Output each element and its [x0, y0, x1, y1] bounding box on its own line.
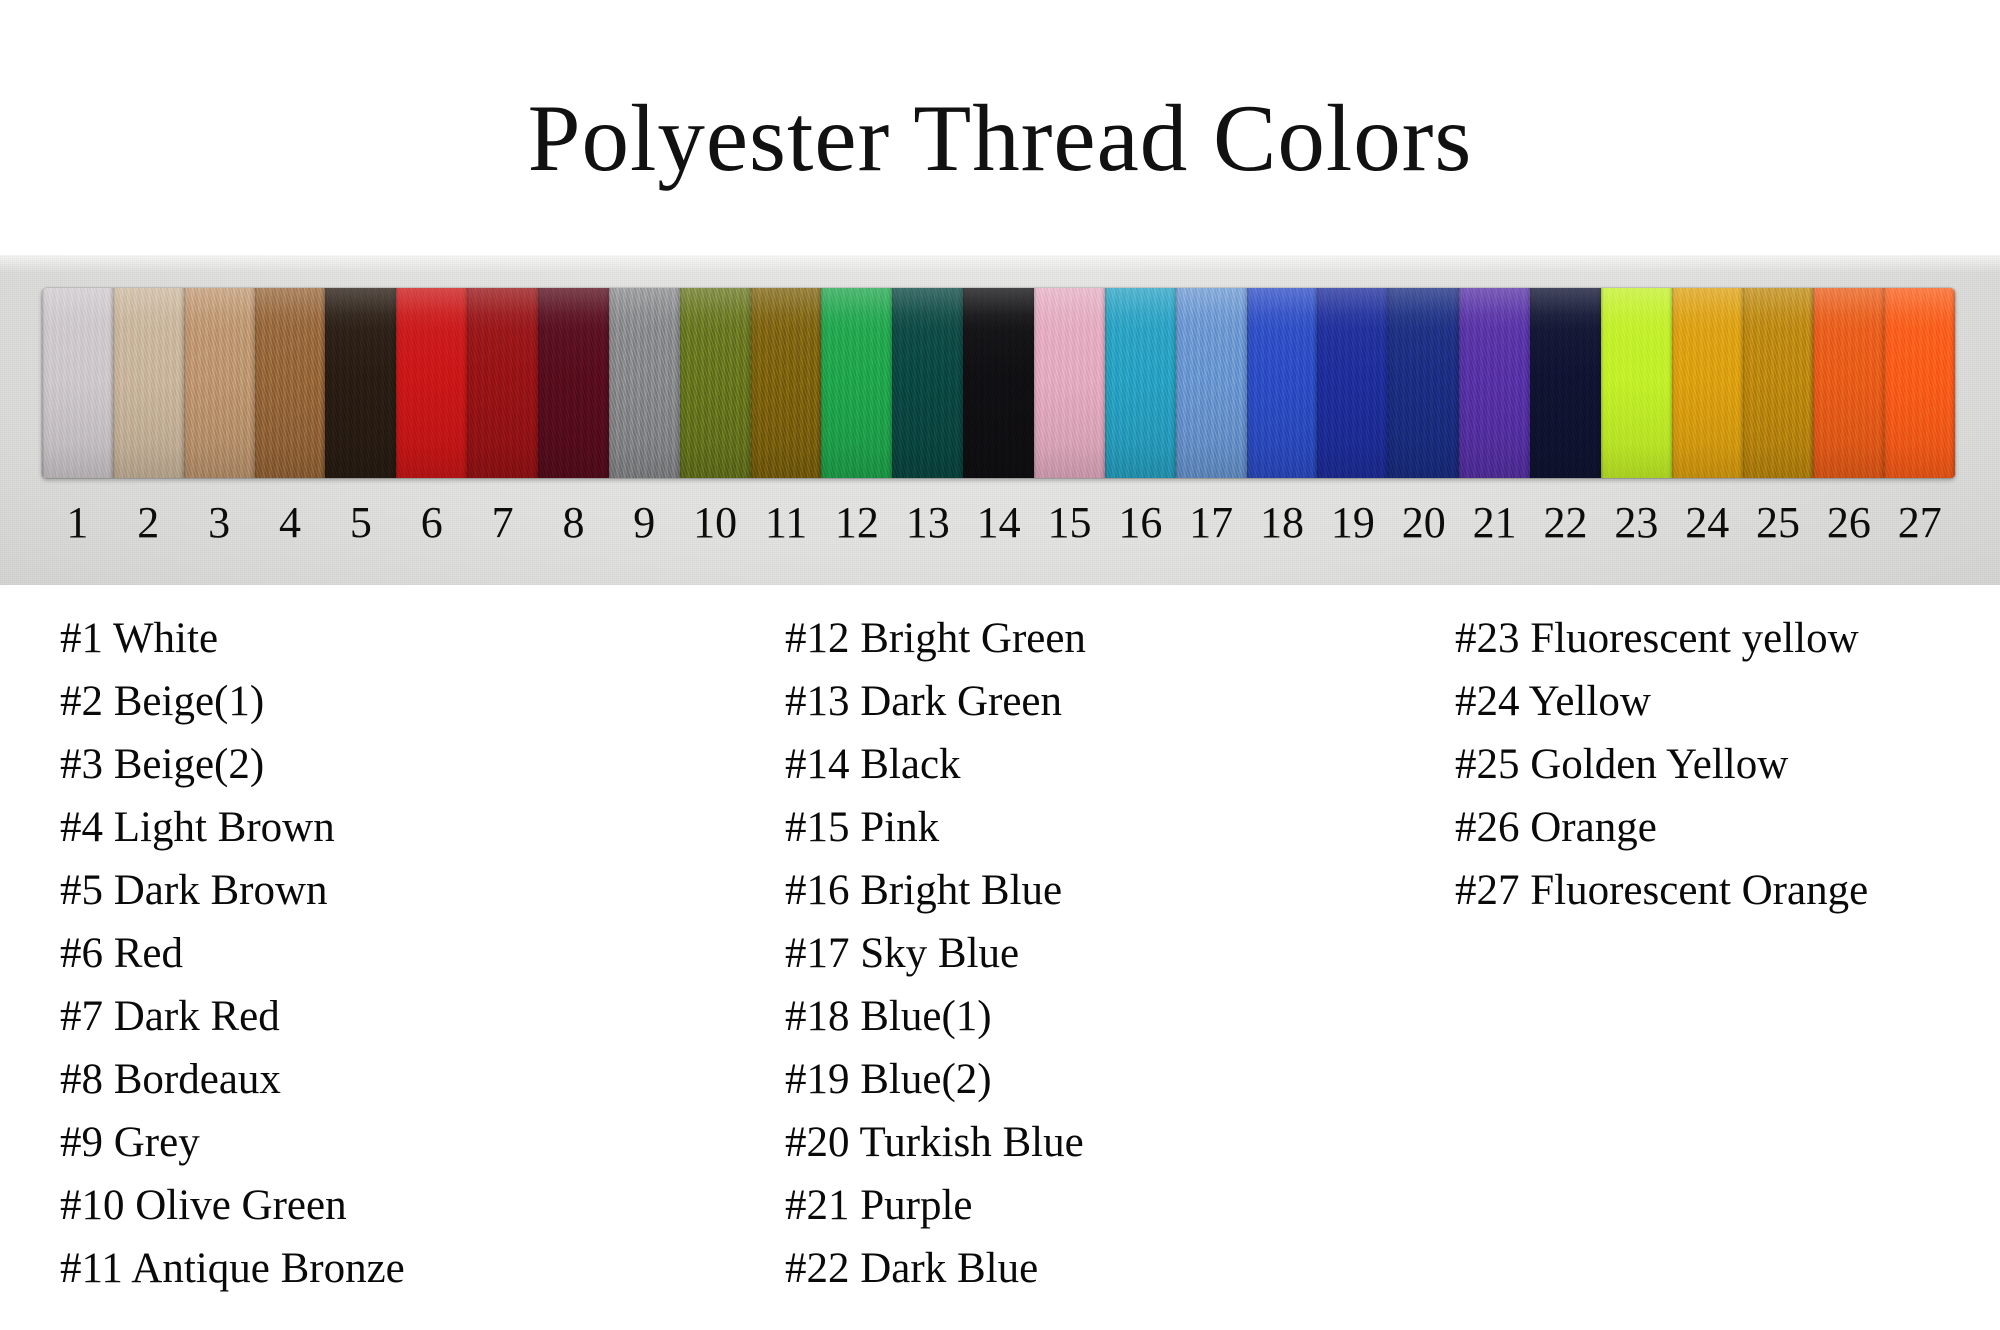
thread-swatch-strip	[42, 288, 1955, 478]
swatch-edge-left	[184, 288, 187, 478]
swatch-number-6: 6	[396, 495, 467, 555]
legend-item: #21 Purple	[785, 1174, 1425, 1237]
swatch-shading	[1601, 288, 1672, 478]
swatch-number-10: 10	[680, 495, 751, 555]
legend-item: #10 Olive Green	[60, 1174, 700, 1237]
thread-swatch-5	[325, 288, 396, 478]
swatch-edge-left	[609, 288, 612, 478]
swatch-number-14: 14	[963, 495, 1034, 555]
swatch-number-9: 9	[609, 495, 680, 555]
thread-swatch-25	[1743, 288, 1814, 478]
swatch-edge-left	[963, 288, 966, 478]
thread-swatch-17	[1176, 288, 1247, 478]
thread-swatch-15	[1034, 288, 1105, 478]
legend-item: #26 Orange	[1455, 796, 1975, 859]
legend-item: #16 Bright Blue	[785, 859, 1425, 922]
swatch-number-26: 26	[1813, 495, 1884, 555]
legend-item: #1 White	[60, 607, 700, 670]
swatch-number-12: 12	[821, 495, 892, 555]
thread-swatch-21	[1459, 288, 1530, 478]
thread-swatch-16	[1105, 288, 1176, 478]
swatch-edge-left	[1176, 288, 1179, 478]
thread-swatch-3	[184, 288, 255, 478]
swatch-number-20: 20	[1388, 495, 1459, 555]
swatch-shading	[396, 288, 467, 478]
thread-swatch-7	[467, 288, 538, 478]
legend-item: #20 Turkish Blue	[785, 1111, 1425, 1174]
swatch-edge-left	[538, 288, 541, 478]
swatch-number-25: 25	[1743, 495, 1814, 555]
swatch-number-7: 7	[467, 495, 538, 555]
swatch-shading	[751, 288, 822, 478]
swatch-shading	[1176, 288, 1247, 478]
swatch-edge-left	[255, 288, 258, 478]
legend-item: #25 Golden Yellow	[1455, 733, 1975, 796]
swatch-shading	[1388, 288, 1459, 478]
swatch-edge-left	[680, 288, 683, 478]
legend-item: #24 Yellow	[1455, 670, 1975, 733]
legend-item: #11 Antique Bronze	[60, 1237, 700, 1300]
swatch-shading	[1034, 288, 1105, 478]
legend-item: #5 Dark Brown	[60, 859, 700, 922]
swatch-shading	[821, 288, 892, 478]
swatch-number-3: 3	[184, 495, 255, 555]
swatch-edge-left	[1884, 288, 1887, 478]
legend-item: #12 Bright Green	[785, 607, 1425, 670]
swatch-shading	[1672, 288, 1743, 478]
swatch-edge-left	[1317, 288, 1320, 478]
legend-item: #2 Beige(1)	[60, 670, 700, 733]
swatch-shading	[1884, 288, 1955, 478]
legend-item: #22 Dark Blue	[785, 1237, 1425, 1300]
legend-column-2: #12 Bright Green#13 Dark Green#14 Black#…	[785, 607, 1425, 1300]
swatch-shading	[467, 288, 538, 478]
legend-item: #14 Black	[785, 733, 1425, 796]
thread-swatch-24	[1672, 288, 1743, 478]
swatch-number-19: 19	[1317, 495, 1388, 555]
thread-swatch-22	[1530, 288, 1601, 478]
swatch-number-13: 13	[892, 495, 963, 555]
swatch-number-15: 15	[1034, 495, 1105, 555]
swatch-edge-left	[396, 288, 399, 478]
legend-item: #4 Light Brown	[60, 796, 700, 859]
swatch-shading	[963, 288, 1034, 478]
swatch-number-row: 1234567891011121314151617181920212223242…	[42, 495, 1955, 555]
swatch-edge-left	[42, 288, 45, 478]
swatch-shading	[1743, 288, 1814, 478]
legend-item: #9 Grey	[60, 1111, 700, 1174]
swatch-number-24: 24	[1672, 495, 1743, 555]
thread-swatch-27	[1884, 288, 1955, 478]
legend-column-3: #23 Fluorescent yellow#24 Yellow#25 Gold…	[1455, 607, 1975, 922]
legend-item: #8 Bordeaux	[60, 1048, 700, 1111]
thread-swatch-2	[113, 288, 184, 478]
legend-item: #17 Sky Blue	[785, 922, 1425, 985]
thread-swatch-12	[821, 288, 892, 478]
swatch-shading	[42, 288, 113, 478]
thread-swatch-26	[1813, 288, 1884, 478]
thread-swatch-8	[538, 288, 609, 478]
swatch-shading	[892, 288, 963, 478]
swatch-number-21: 21	[1459, 495, 1530, 555]
swatch-shading	[325, 288, 396, 478]
swatch-number-1: 1	[42, 495, 113, 555]
swatch-shading	[538, 288, 609, 478]
swatch-number-2: 2	[113, 495, 184, 555]
thread-swatch-4	[255, 288, 326, 478]
swatch-shading	[113, 288, 184, 478]
swatch-edge-left	[1601, 288, 1604, 478]
thread-swatch-20	[1388, 288, 1459, 478]
legend-item: #13 Dark Green	[785, 670, 1425, 733]
legend-item: #6 Red	[60, 922, 700, 985]
thread-swatch-19	[1317, 288, 1388, 478]
swatch-number-16: 16	[1105, 495, 1176, 555]
swatch-edge-left	[1247, 288, 1250, 478]
swatch-number-27: 27	[1884, 495, 1955, 555]
legend-item: #7 Dark Red	[60, 985, 700, 1048]
thread-swatch-14	[963, 288, 1034, 478]
legend-item: #18 Blue(1)	[785, 985, 1425, 1048]
thread-swatch-9	[609, 288, 680, 478]
legend-column-1: #1 White#2 Beige(1)#3 Beige(2)#4 Light B…	[60, 607, 700, 1300]
thread-swatch-18	[1247, 288, 1318, 478]
swatch-number-17: 17	[1176, 495, 1247, 555]
legend-item: #3 Beige(2)	[60, 733, 700, 796]
swatch-edge-left	[821, 288, 824, 478]
thread-swatch-11	[751, 288, 822, 478]
swatch-edge-left	[1672, 288, 1675, 478]
swatch-shading	[1105, 288, 1176, 478]
swatch-edge-left	[892, 288, 895, 478]
swatch-edge-left	[1743, 288, 1746, 478]
swatch-number-4: 4	[255, 495, 326, 555]
swatch-number-18: 18	[1247, 495, 1318, 555]
swatch-edge-left	[1105, 288, 1108, 478]
swatch-number-8: 8	[538, 495, 609, 555]
swatch-edge-left	[1813, 288, 1816, 478]
page-title: Polyester Thread Colors	[528, 69, 1473, 186]
swatch-shading	[609, 288, 680, 478]
thread-swatch-10	[680, 288, 751, 478]
swatch-shading	[680, 288, 751, 478]
swatch-shading	[1317, 288, 1388, 478]
thread-swatch-13	[892, 288, 963, 478]
swatch-number-5: 5	[325, 495, 396, 555]
swatch-shading	[1247, 288, 1318, 478]
swatch-shading	[1530, 288, 1601, 478]
legend-item: #19 Blue(2)	[785, 1048, 1425, 1111]
color-legend: #1 White#2 Beige(1)#3 Beige(2)#4 Light B…	[0, 585, 2000, 1330]
legend-item: #23 Fluorescent yellow	[1455, 607, 1975, 670]
swatch-edge-left	[325, 288, 328, 478]
swatch-edge-left	[1459, 288, 1462, 478]
title-section: Polyester Thread Colors	[0, 0, 2000, 255]
swatch-number-23: 23	[1601, 495, 1672, 555]
swatch-number-22: 22	[1530, 495, 1601, 555]
swatch-number-11: 11	[751, 495, 822, 555]
swatch-shading	[255, 288, 326, 478]
thread-swatch-1	[42, 288, 113, 478]
swatch-edge-left	[1388, 288, 1391, 478]
swatch-edge-left	[751, 288, 754, 478]
swatch-edge-left	[113, 288, 116, 478]
swatch-edge-left	[467, 288, 470, 478]
thread-swatch-6	[396, 288, 467, 478]
swatch-edge-left	[1034, 288, 1037, 478]
swatch-shading	[184, 288, 255, 478]
swatch-shading	[1813, 288, 1884, 478]
thread-swatch-23	[1601, 288, 1672, 478]
thread-photo: 1234567891011121314151617181920212223242…	[0, 255, 2000, 585]
swatch-edge-left	[1530, 288, 1533, 478]
photo-top-highlight	[0, 255, 2000, 273]
swatch-edge-right	[1952, 288, 1955, 478]
legend-item: #15 Pink	[785, 796, 1425, 859]
swatch-shading	[1459, 288, 1530, 478]
legend-item: #27 Fluorescent Orange	[1455, 859, 1975, 922]
